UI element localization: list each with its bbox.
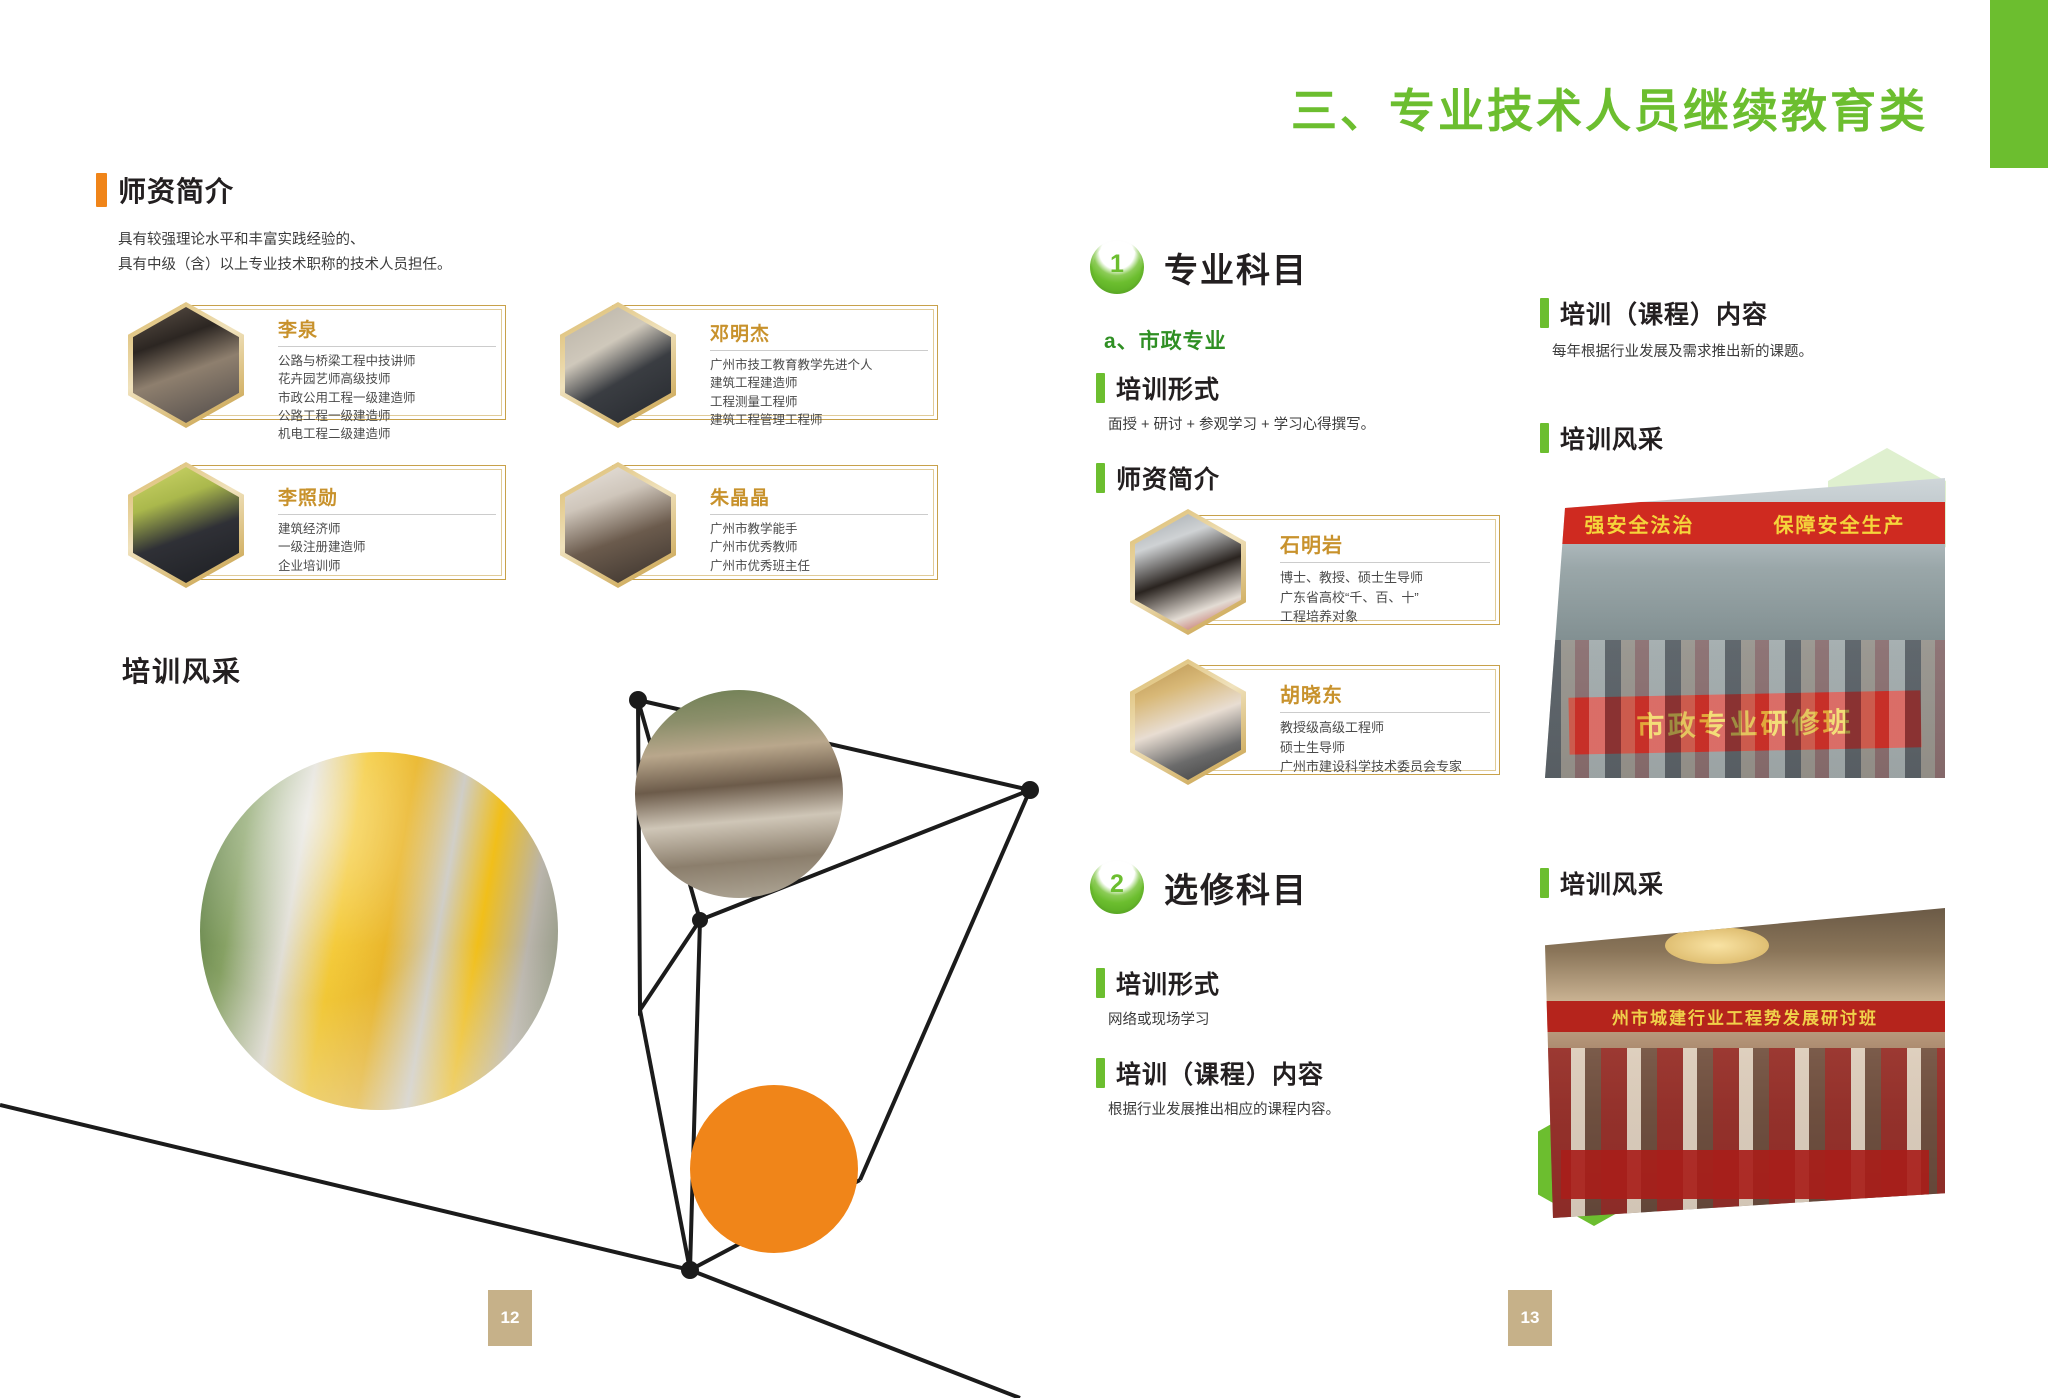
elective-format-heading: 培训形式	[1096, 965, 1220, 1001]
green-bar-icon	[1096, 373, 1105, 403]
teacher-qualifications: 建筑经济师 一级注册建造师 企业培训师	[278, 520, 496, 575]
teacher-qualifications: 教授级高级工程师 硕士生导师 广州市建设科学技术委员会专家	[1280, 718, 1490, 777]
teacher-avatar	[1130, 659, 1246, 785]
green-bar-icon	[1540, 423, 1549, 453]
masonry-training-photo	[635, 690, 843, 898]
teacher-avatar	[560, 462, 676, 588]
teacher-avatar	[560, 302, 676, 428]
conference-hall-photo: 州市城建行业工程势发展研讨班	[1545, 908, 1945, 1218]
teacher-name: 石明岩	[1280, 529, 1490, 558]
section-number-badge: 1	[1090, 240, 1144, 294]
surveying-training-photo	[200, 752, 558, 1110]
page-number-left: 12	[488, 1290, 532, 1346]
section-heading-1: 1 专业科目	[1090, 240, 1308, 294]
teacher-name: 李照勋	[278, 483, 496, 510]
course-content-heading: 培训（课程）内容	[1540, 295, 1768, 331]
teacher-qualifications: 广州市技工教育教学先进个人 建筑工程建造师 工程测量工程师 建筑工程管理工程师	[710, 356, 928, 429]
section-title: 专业科目	[1164, 243, 1308, 292]
elective-content-heading: 培训（课程）内容	[1096, 1055, 1324, 1091]
teacher-name: 李泉	[278, 315, 496, 342]
divider	[1280, 562, 1490, 563]
banner-text-left: 强安全法治	[1585, 509, 1695, 538]
teacher-card: 石明岩 博士、教授、硕士生导师 广东省高校“千、百、十” 工程培养对象	[1130, 505, 1500, 635]
course-content-text: 每年根据行业发展及需求推出新的课题。	[1552, 340, 2002, 365]
elective-content-text: 根据行业发展推出相应的课程内容。	[1108, 1098, 1548, 1123]
gallery-heading-1: 培训风采	[1540, 420, 1664, 456]
section-subtitle: a、市政专业	[1104, 325, 1227, 355]
divider	[710, 514, 928, 515]
divider	[1280, 712, 1490, 713]
teacher-avatar	[128, 302, 244, 428]
brochure-spread: 三、专业技术人员继续教育类 师资简介 具有较强理论水平和丰富实践经验的、 具有中…	[0, 0, 2048, 1398]
teacher-qualifications: 广州市教学能手 广州市优秀教师 广州市优秀班主任	[710, 520, 928, 575]
divider	[710, 350, 928, 351]
teacher-name: 邓明杰	[710, 319, 928, 346]
teacher-qualifications: 公路与桥梁工程中技讲师 花卉园艺师高级技师 市政公用工程一级建造师 公路工程一级…	[278, 352, 496, 443]
banner-text: 州市城建行业工程势发展研讨班	[1612, 1004, 1878, 1029]
section-heading-2: 2 选修科目	[1090, 860, 1308, 914]
group-photo-market-class: 强安全法治 保障安全生产 市政专业研修班	[1545, 478, 1945, 778]
gallery-heading-2: 培训风采	[1540, 865, 1664, 901]
divider	[278, 346, 496, 347]
section-number-badge: 2	[1090, 860, 1144, 914]
teacher-name: 朱晶晶	[710, 483, 928, 510]
section-title: 选修科目	[1164, 863, 1308, 912]
teacher-name: 胡晓东	[1280, 679, 1490, 708]
teacher-card: 李泉 公路与桥梁工程中技讲师 花卉园艺师高级技师 市政公用工程一级建造师 公路工…	[128, 295, 506, 430]
elective-format-text: 网络或现场学习	[1108, 1008, 1538, 1033]
training-format-heading: 培训形式	[1096, 370, 1220, 406]
faculty-heading-right: 师资简介	[1096, 460, 1220, 496]
training-format-text: 面授 + 研讨 + 参观学习 + 学习心得撰写。	[1108, 413, 1538, 438]
green-bar-icon	[1540, 868, 1549, 898]
teacher-card: 胡晓东 教授级高级工程师 硕士生导师 广州市建设科学技术委员会专家	[1130, 655, 1500, 785]
page-number-right: 13	[1508, 1290, 1552, 1346]
green-bar-icon	[1540, 298, 1549, 328]
teacher-avatar	[1130, 509, 1246, 635]
green-bar-icon	[1096, 463, 1105, 493]
teacher-qualifications: 博士、教授、硕士生导师 广东省高校“千、百、十” 工程培养对象	[1280, 568, 1490, 627]
banner-text-right: 保障安全生产	[1774, 509, 1906, 538]
divider	[278, 514, 496, 515]
green-bar-icon	[1096, 968, 1105, 998]
green-bar-icon	[1096, 1058, 1105, 1088]
orange-circle-accent	[690, 1085, 858, 1253]
teacher-avatar	[128, 462, 244, 588]
